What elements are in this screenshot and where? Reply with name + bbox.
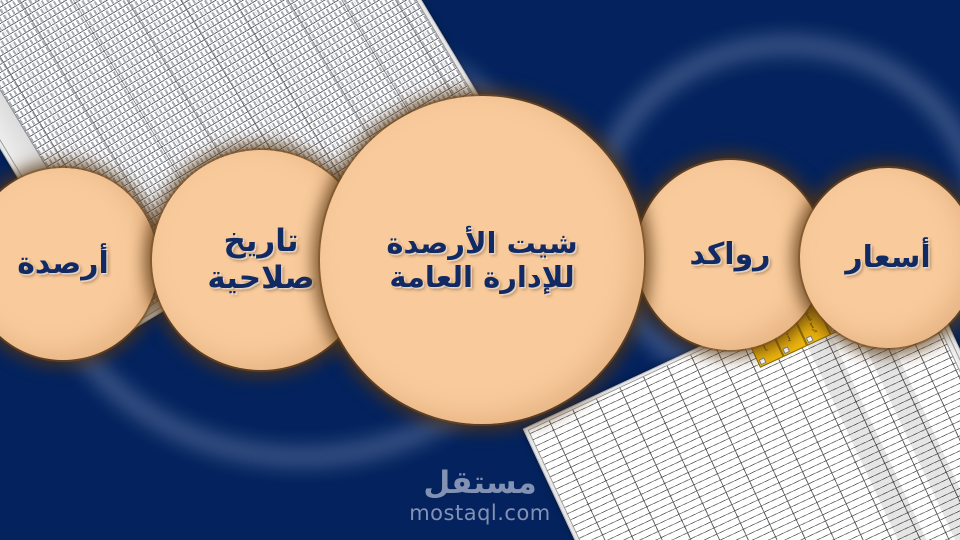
circle-prices-label: أسعار: [843, 240, 932, 275]
circle-main-title-label: شيت الأرصدة للإدارة العامة: [384, 226, 579, 294]
circle-balances-label: أرصدة: [15, 246, 111, 281]
slide-canvas: البيان وحدة القياس الرصيد Ready اسم الصن…: [0, 0, 960, 540]
circle-main-title: شيت الأرصدة للإدارة العامة: [320, 96, 644, 424]
circle-stagnant-stock: رواكد: [636, 160, 824, 350]
circle-stagnant-stock-label: رواكد: [688, 237, 773, 272]
